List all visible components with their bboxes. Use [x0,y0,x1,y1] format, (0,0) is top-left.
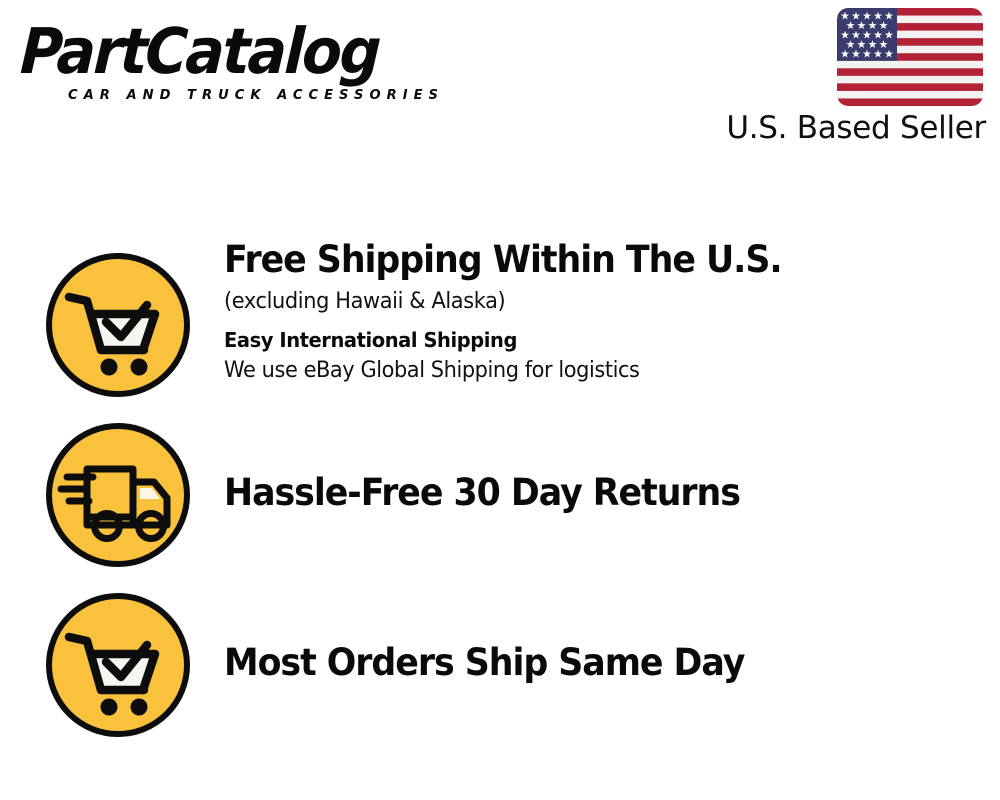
delivery-truck-icon [43,420,193,570]
shopping-cart-check-icon [43,250,193,400]
us-based-seller-block: U.S. Based Seller [711,8,986,147]
feature-note: (excluding Hawaii & Alaska) [224,288,961,316]
brand-tagline: CAR AND TRUCK ACCESSORIES [68,87,479,103]
promo-banner: PartCatalog CAR AND TRUCK ACCESSORIES [0,0,1000,800]
shopping-cart-check-icon [43,590,193,740]
feature-sub-title: Easy International Shipping [224,328,961,353]
feature-row: Hassle-Free 30 Day Returns [0,406,1000,576]
feature-row: Most Orders Ship Same Day [0,576,1000,746]
us-flag-icon [837,8,983,106]
brand-wordmark: PartCatalog [19,20,454,83]
feature-title: Hassle-Free 30 Day Returns [224,473,953,514]
feature-text: Most Orders Ship Same Day [193,639,1000,684]
feature-row: Free Shipping Within The U.S. (excluding… [0,236,1000,406]
feature-sub-note: We use eBay Global Shipping for logistic… [224,357,961,385]
feature-text: Free Shipping Within The U.S. (excluding… [193,236,1000,384]
feature-title: Free Shipping Within The U.S. [224,240,953,281]
feature-text: Hassle-Free 30 Day Returns [193,469,1000,514]
brand-logo: PartCatalog CAR AND TRUCK ACCESSORIES [22,20,492,115]
feature-title: Most Orders Ship Same Day [224,643,953,684]
us-based-seller-label: U.S. Based Seller [711,111,986,147]
feature-list: Free Shipping Within The U.S. (excluding… [0,236,1000,746]
